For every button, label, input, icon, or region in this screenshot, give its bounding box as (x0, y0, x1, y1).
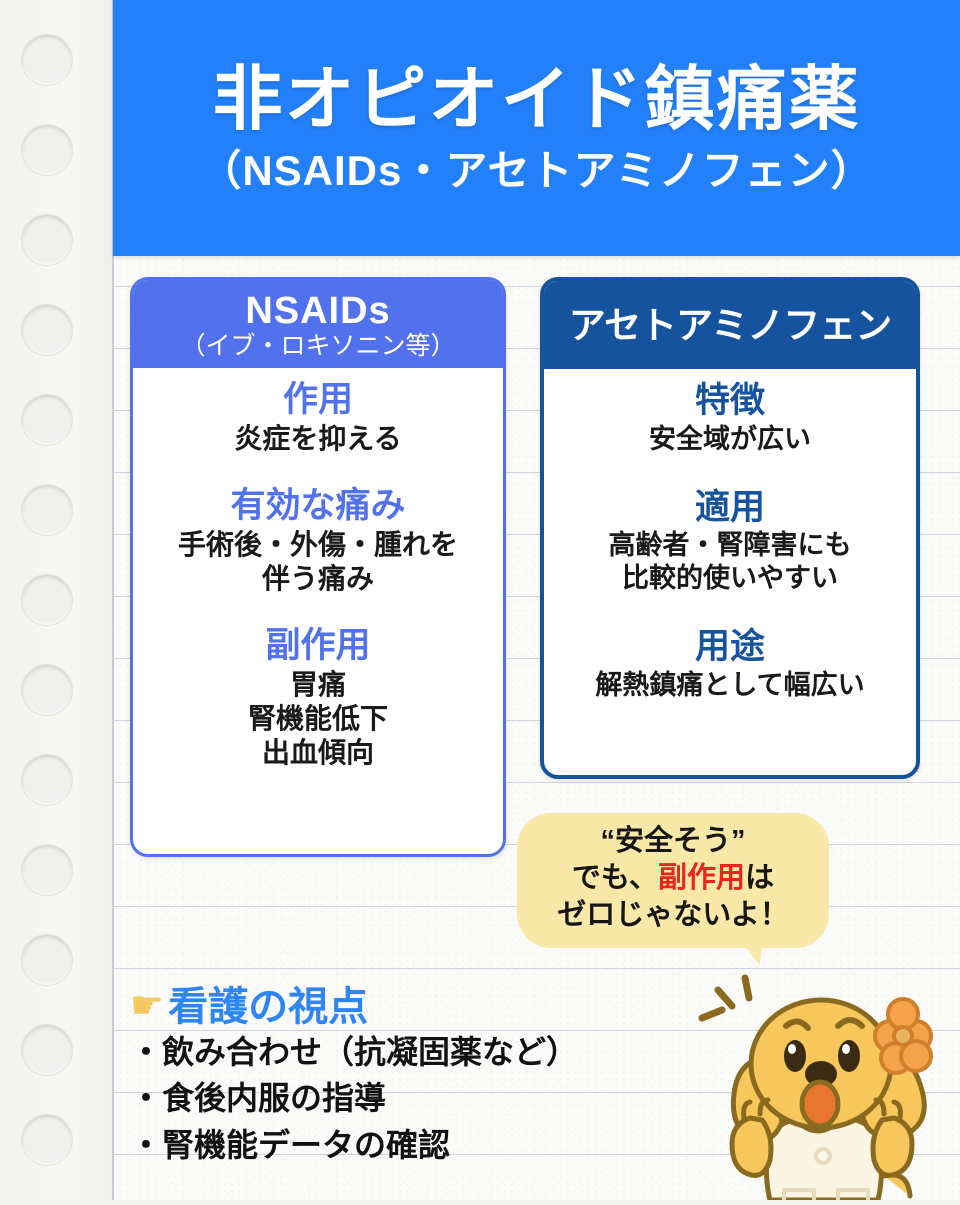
acet-section-indication-title: 適用 (554, 486, 906, 530)
card-acetaminophen-header: アセトアミノフェン (544, 281, 916, 369)
page-subtitle: （NSAIDs・アセトアミノフェン） (199, 150, 873, 192)
punch-hole (21, 754, 73, 806)
nursing-points-heading: 看護の視点 (168, 985, 368, 1029)
acet-section-indication-line-1: 比較的使いやすい (554, 562, 906, 595)
acet-section-usage: 用途 解熱鎮痛として幅広い (554, 625, 906, 702)
punch-hole (21, 844, 73, 896)
acet-section-feature-line-0: 安全域が広い (554, 423, 906, 456)
bubble-line-2-post: は (745, 862, 774, 894)
bubble-line-2: でも、副作用は (572, 860, 774, 897)
nsaids-section-effective-pain: 有効な痛み 手術後・外傷・腫れを 伴う痛み (143, 484, 493, 596)
punch-hole (21, 394, 73, 446)
nsaids-section-effective-pain-title: 有効な痛み (143, 484, 493, 528)
card-nsaids: NSAIDs （イブ・ロキソニン等） 作用 炎症を抑える 有効な痛み 手術後・外… (130, 277, 506, 857)
punch-hole (21, 934, 73, 986)
nursing-point-1: ・食後内服の指導 (130, 1075, 690, 1121)
acet-section-feature-title: 特徴 (554, 379, 906, 423)
punch-hole (21, 214, 73, 266)
card-nsaids-header: NSAIDs （イブ・ロキソニン等） (133, 280, 503, 368)
page-title: 非オピオイド鎮痛薬 (213, 64, 861, 134)
nursing-point-2: ・腎機能データの確認 (130, 1122, 690, 1168)
nsaids-section-side-effects-line-1: 腎機能低下 (143, 702, 493, 736)
punch-hole (21, 1024, 73, 1076)
card-acetaminophen: アセトアミノフェン 特徴 安全域が広い 適用 高齢者・腎障害にも 比較的使いやす… (540, 277, 920, 779)
bubble-line-3: ゼロじゃないよ！ (557, 897, 788, 934)
punch-hole (21, 484, 73, 536)
acet-section-usage-title: 用途 (554, 625, 906, 669)
acet-section-indication-line-0: 高齢者・腎障害にも (554, 529, 906, 562)
nsaids-section-side-effects-title: 副作用 (143, 624, 493, 668)
nsaids-section-effective-pain-line-1: 伴う痛み (143, 562, 493, 596)
bubble-line-2-highlight: 副作用 (658, 862, 745, 894)
nsaids-section-effective-pain-line-0: 手術後・外傷・腫れを (143, 528, 493, 562)
punch-hole (21, 1114, 73, 1166)
nsaids-section-action: 作用 炎症を抑える (143, 378, 493, 456)
acet-section-usage-line-0: 解熱鎮痛として幅広い (554, 669, 906, 702)
card-acetaminophen-title: アセトアミノフェン (569, 307, 892, 344)
bubble-line-2-pre: でも、 (572, 862, 658, 894)
punch-hole (21, 574, 73, 626)
speech-bubble: “安全そう” でも、副作用は ゼロじゃないよ！ (517, 813, 829, 948)
page-title-banner: 非オピオイド鎮痛薬 （NSAIDs・アセトアミノフェン） (113, 0, 960, 256)
nurse-dog-mascot (688, 952, 960, 1200)
card-nsaids-body: 作用 炎症を抑える 有効な痛み 手術後・外傷・腫れを 伴う痛み 副作用 胃痛 腎… (133, 368, 503, 784)
acet-section-indication: 適用 高齢者・腎障害にも 比較的使いやすい (554, 486, 906, 596)
punch-hole (21, 34, 73, 86)
nsaids-section-side-effects-line-0: 胃痛 (143, 668, 493, 702)
nsaids-section-action-title: 作用 (143, 378, 493, 422)
punch-hole (21, 124, 73, 176)
card-nsaids-subtitle: （イブ・ロキソニン等） (180, 333, 455, 361)
punch-hole (21, 664, 73, 716)
nsaids-section-side-effects: 副作用 胃痛 腎機能低下 出血傾向 (143, 624, 493, 770)
nursing-points-section: ☛ 看護の視点 ・飲み合わせ（抗凝固薬など） ・食後内服の指導 ・腎機能データの… (130, 985, 690, 1168)
bubble-line-1: “安全そう” (600, 823, 745, 860)
point-right-icon: ☛ (130, 986, 164, 1028)
card-acetaminophen-body: 特徴 安全域が広い 適用 高齢者・腎障害にも 比較的使いやすい 用途 解熱鎮痛と… (544, 369, 916, 716)
acet-section-feature: 特徴 安全域が広い (554, 379, 906, 456)
punch-hole (21, 304, 73, 356)
nsaids-section-action-line-0: 炎症を抑える (143, 422, 493, 456)
card-nsaids-title: NSAIDs (245, 292, 390, 332)
nursing-points-heading-row: ☛ 看護の視点 (130, 985, 690, 1029)
nurse-dog-mascot-illustration (688, 952, 960, 1200)
nursing-point-0: ・飲み合わせ（抗凝固薬など） (130, 1029, 690, 1075)
nsaids-section-side-effects-line-2: 出血傾向 (143, 736, 493, 770)
